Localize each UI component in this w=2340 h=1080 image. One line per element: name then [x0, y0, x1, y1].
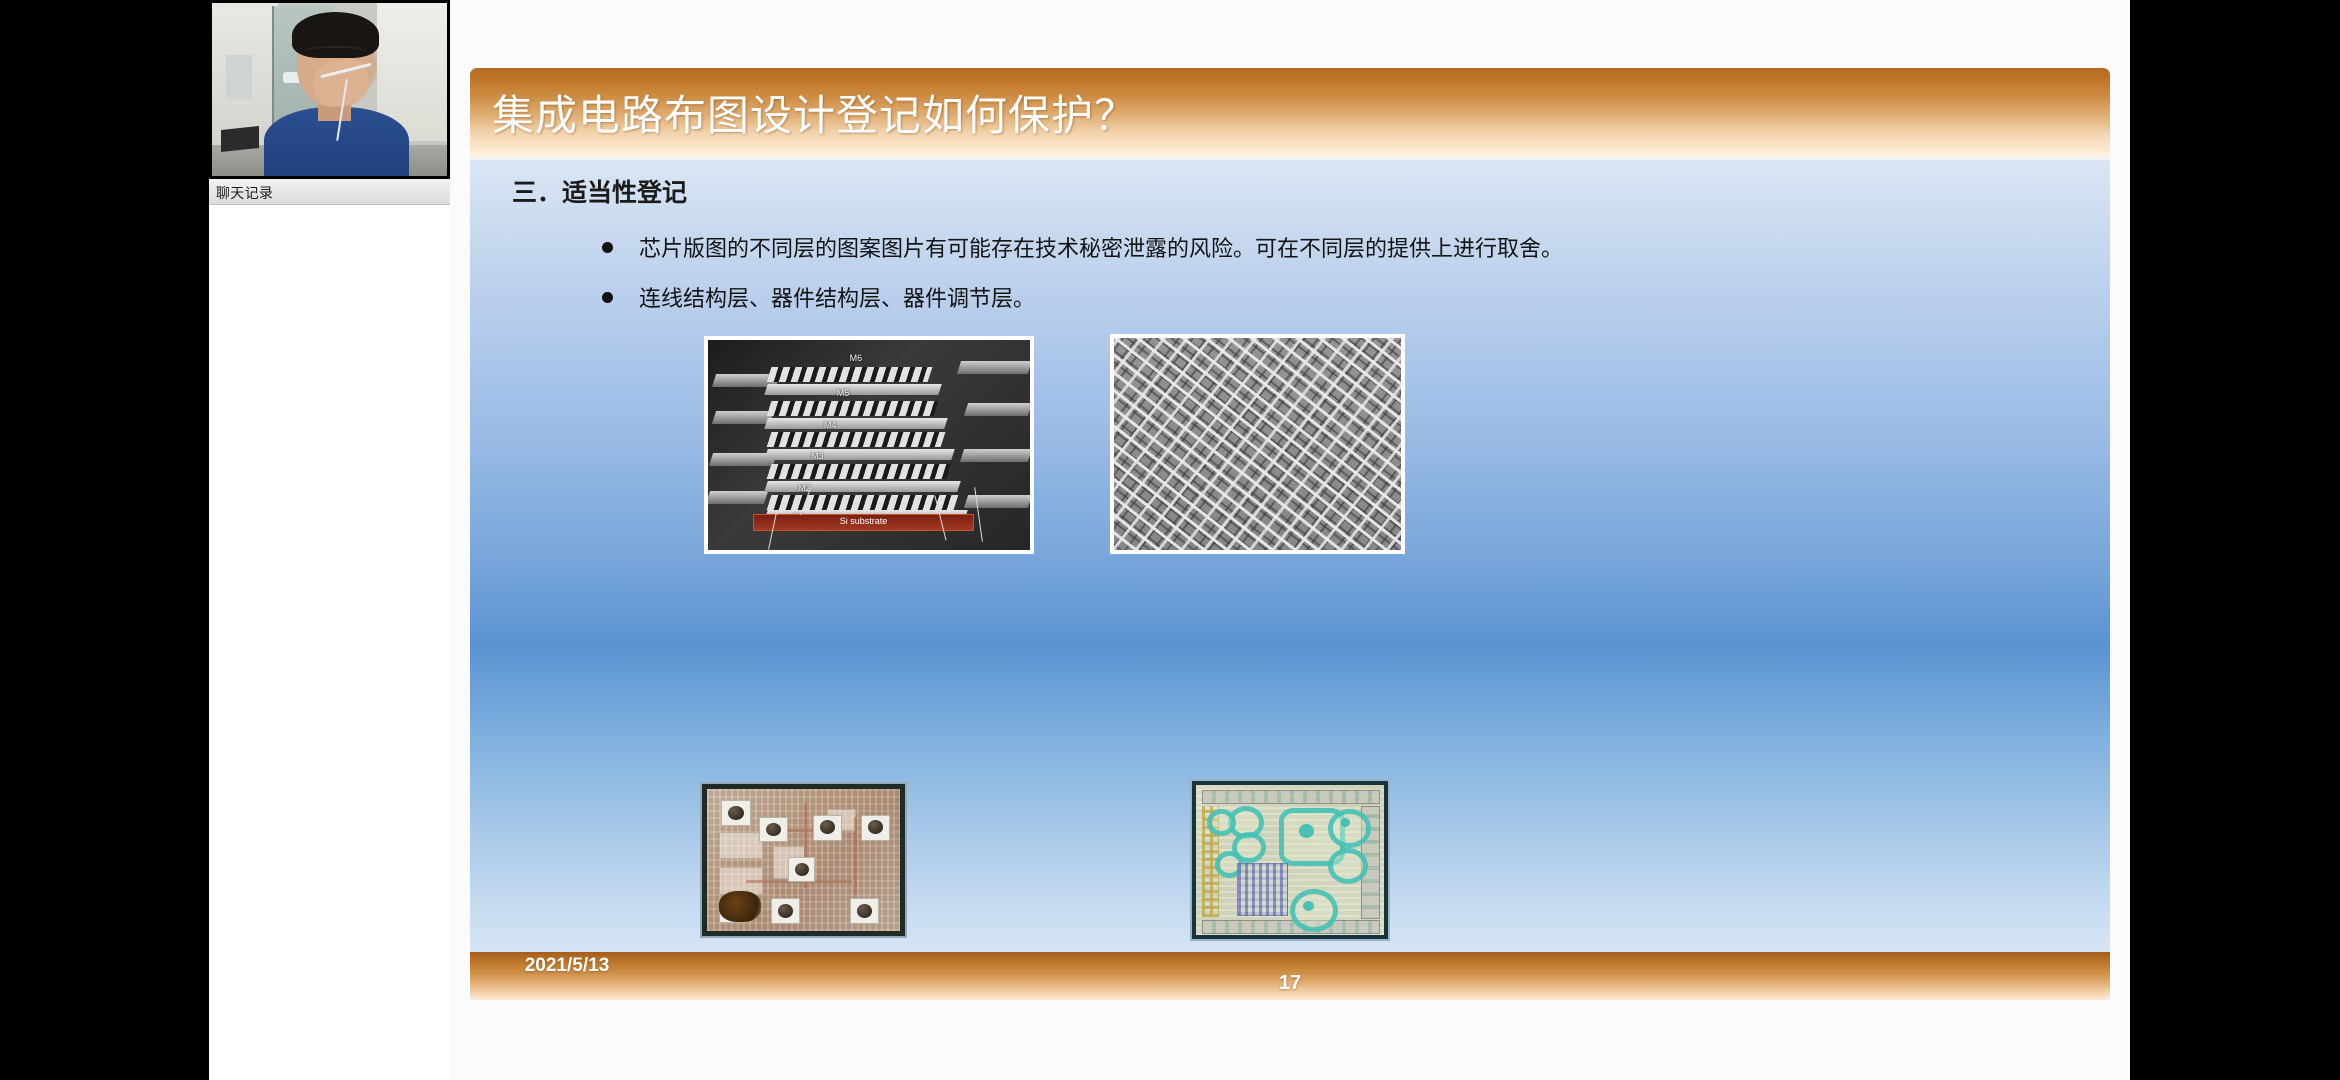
bond-pad [721, 800, 752, 826]
chat-message-list[interactable] [209, 205, 450, 1080]
bond-pad [861, 815, 890, 841]
spiral-inductor [1328, 848, 1368, 884]
spiral-inductor [1328, 809, 1372, 848]
presenter-video-tile[interactable] [209, 0, 450, 179]
screen-root: 聊天记录 集成电路布图设计登记如何保护？ 三．适当性登记 芯片版图的不同层的图案… [0, 0, 2340, 1080]
figure-die-photo-analog [702, 784, 905, 936]
slide-page-number: 17 [470, 972, 2110, 995]
interconnect-mesh-pattern [1114, 338, 1401, 550]
spiral-inductor [1290, 889, 1338, 932]
die-photo-analog-image [707, 789, 900, 931]
bond-pad [850, 898, 879, 924]
slide-bullet-1-text: 芯片版图的不同层的图案图片有可能存在技术秘密泄露的风险。可在不同层的提供上进行取… [639, 237, 1563, 262]
spiral-inductor [1207, 809, 1236, 836]
sem-label-m6: M6 [850, 353, 863, 363]
bond-pad [788, 857, 815, 882]
video-bg-monitor [221, 126, 259, 152]
sem-metal-stack-image: M6 M5 M4 M3 M2 M1 [708, 340, 1030, 550]
figure-sem-metal-stack: M6 M5 M4 M3 M2 M1 [704, 336, 1034, 554]
figure-die-photo-rf [1192, 781, 1388, 939]
sem-label-m3: M3 [811, 451, 824, 461]
bond-pad [813, 815, 842, 841]
bullet-dot-icon [602, 292, 613, 303]
chat-panel-header[interactable]: 聊天记录 [209, 179, 450, 205]
sem-label-m5: M5 [837, 388, 850, 398]
slide-bullet-2: 连线结构层、器件结构层、器件调节层。 [602, 281, 1035, 313]
slide-bullet-2-text: 连线结构层、器件结构层、器件调节层。 [639, 287, 1035, 312]
presentation-slide: 集成电路布图设计登记如何保护？ 三．适当性登记 芯片版图的不同层的图案图片有可能… [470, 68, 2110, 1000]
capacitor-array [1237, 863, 1288, 916]
die-photo-rf-image [1196, 785, 1384, 935]
video-bg-cabinet [226, 55, 252, 100]
die-contamination-spot [719, 891, 761, 922]
slide-title-bar: 集成电路布图设计登记如何保护？ [470, 68, 2110, 154]
shared-screen-viewport: 集成电路布图设计登记如何保护？ 三．适当性登记 芯片版图的不同层的图案图片有可能… [450, 0, 2130, 1080]
figure-sem-interconnect [1110, 334, 1405, 554]
bond-pad [759, 817, 788, 842]
bond-pad [771, 898, 800, 924]
sem-label-m4: M4 [824, 420, 837, 430]
slide-section-heading: 三．适当性登记 [512, 173, 687, 209]
bullet-dot-icon [602, 242, 613, 253]
slide-footer-bar: 2021/5/13 17 [470, 952, 2110, 1000]
chat-panel-title: 聊天记录 [216, 183, 273, 203]
webcam-feed [212, 3, 447, 176]
sem-interconnect-image [1114, 338, 1401, 550]
slide-bullet-1: 芯片版图的不同层的图案图片有可能存在技术秘密泄露的风险。可在不同层的提供上进行取… [602, 231, 1563, 263]
slide-title: 集成电路布图设计登记如何保护？ [492, 82, 1137, 143]
